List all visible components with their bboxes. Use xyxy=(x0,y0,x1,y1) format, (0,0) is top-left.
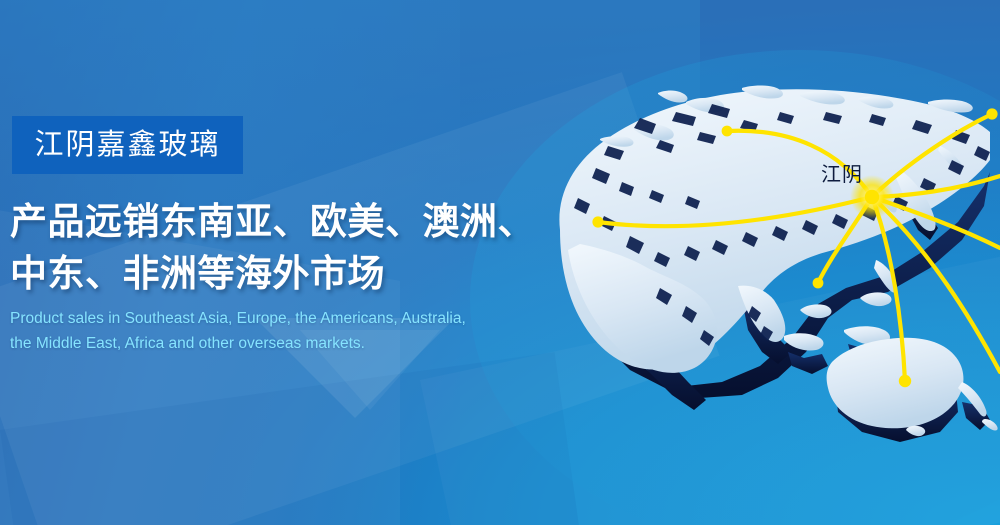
endpoint-west-africa xyxy=(592,216,603,227)
subtitle-line-1: Product sales in Southeast Asia, Europe,… xyxy=(10,306,580,331)
company-badge-text: 江阴嘉鑫玻璃 xyxy=(34,131,220,160)
company-badge: 江阴嘉鑫玻璃 xyxy=(12,116,243,174)
endpoint-australia xyxy=(899,375,911,387)
headline: 产品远销东南亚、欧美、澳洲、 中东、非洲等海外市场 xyxy=(10,196,570,300)
endpoint-north-europe xyxy=(722,126,733,137)
hub-dot xyxy=(865,190,879,204)
headline-line-1: 产品远销东南亚、欧美、澳洲、 xyxy=(10,196,570,248)
endpoint-southeast-asia xyxy=(813,278,824,289)
subtitle-line-2: the Middle East, Africa and other overse… xyxy=(10,331,580,356)
subtitle: Product sales in Southeast Asia, Europe,… xyxy=(10,306,580,356)
map-hub-label-jiangyin: 江阴 xyxy=(821,165,863,185)
headline-line-2: 中东、非洲等海外市场 xyxy=(10,248,570,300)
endpoint-northeast xyxy=(986,108,997,119)
promo-banner: 江阴嘉鑫玻璃 产品远销东南亚、欧美、澳洲、 中东、非洲等海外市场 Product… xyxy=(0,0,1000,525)
